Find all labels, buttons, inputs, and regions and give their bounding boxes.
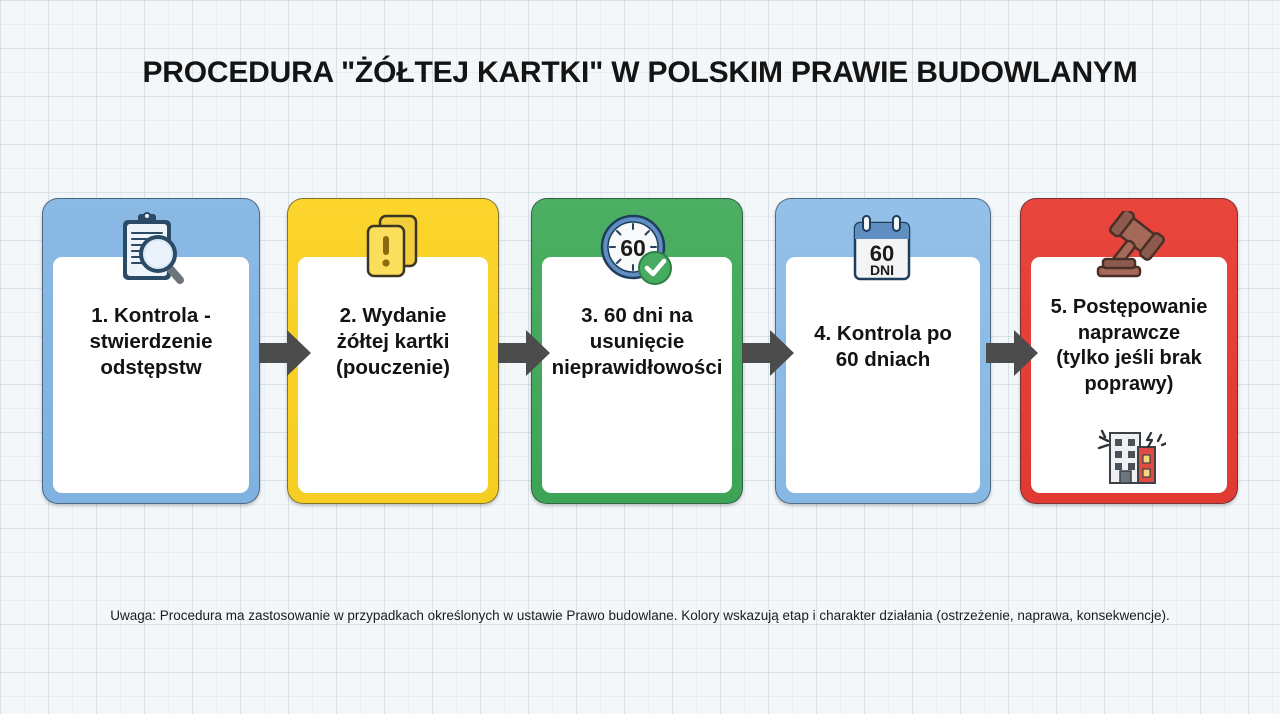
step-card-3-label: 3. 60 dni na usunięcie nieprawidłowości (538, 303, 736, 382)
step-card-2[interactable]: 2. Wydanie żółtej kartki (pouczenie) (287, 198, 499, 504)
step-card-4-panel (786, 257, 980, 493)
arrow-step1-to-step2 (259, 330, 311, 376)
page-title: PROCEDURA "ŻÓŁTEJ KARTKI" W POLSKIM PRAW… (0, 56, 1280, 90)
step-card-4[interactable]: 60 DNI 4. Kontrola po 60 dniach (775, 198, 991, 504)
step-card-1[interactable]: 1. Kontrola - stwierdzenie odstępstw (42, 198, 260, 504)
arrow-step2-to-step3 (498, 330, 550, 376)
step-card-2-label: 2. Wydanie żółtej kartki (pouczenie) (294, 303, 492, 382)
process-flow: 1. Kontrola - stwierdzenie odstępstw 2. … (42, 198, 1238, 504)
step-card-5-label: 5. Postępowanie naprawcze (tylko jeśli b… (1027, 295, 1231, 397)
arrow-step3-to-step4 (742, 330, 794, 376)
damaged-building-icon (1021, 423, 1237, 489)
step-card-4-label: 4. Kontrola po 60 dniach (782, 321, 984, 373)
step-card-5[interactable]: 5. Postępowanie naprawcze (tylko jeśli b… (1020, 198, 1238, 504)
arrow-step4-to-step5 (986, 330, 1038, 376)
footnote-text: Uwaga: Procedura ma zastosowanie w przyp… (0, 608, 1280, 623)
infographic-canvas: PROCEDURA "ŻÓŁTEJ KARTKI" W POLSKIM PRAW… (0, 0, 1280, 714)
step-card-3[interactable]: 60 3. 60 dni na usunięcie nieprawidłowoś… (531, 198, 743, 504)
step-card-1-label: 1. Kontrola - stwierdzenie odstępstw (49, 303, 253, 382)
